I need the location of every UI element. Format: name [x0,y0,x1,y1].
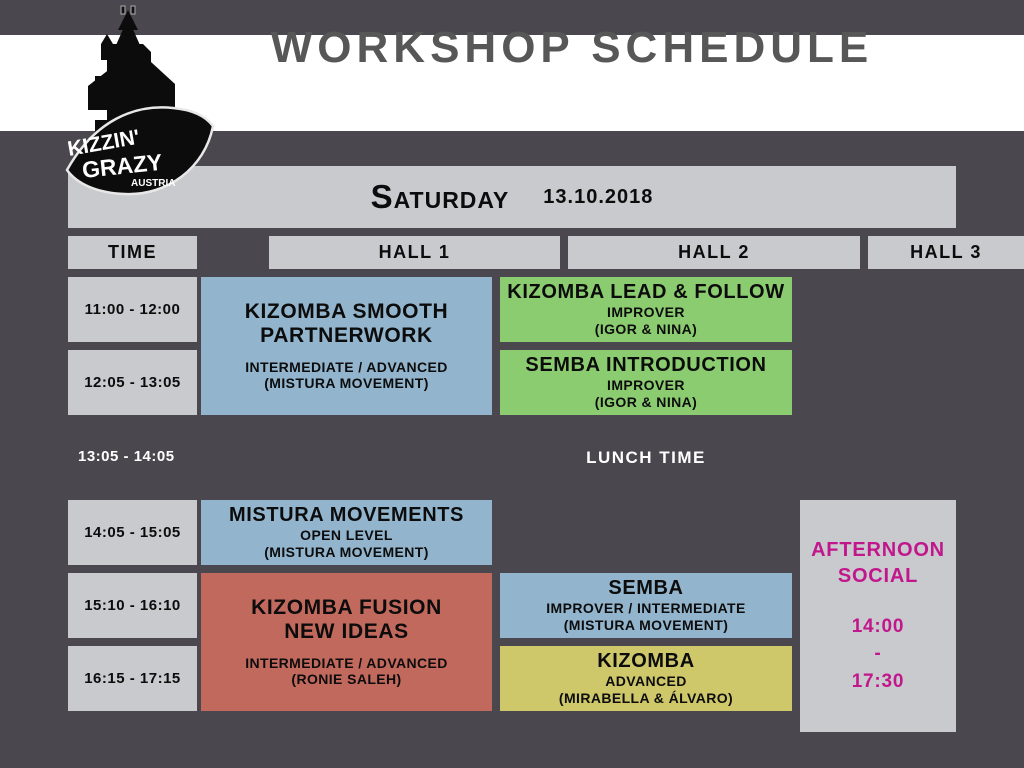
workshop-schedule-poster: WORKSHOP SCHEDULE KIZZIN' [0,0,1024,768]
session-title: SEMBA INTRODUCTION [525,354,766,377]
time-cell-1205-1305: 12:05 - 13:05 [68,350,197,415]
session-teacher: (RONIE SALEH) [291,671,401,688]
time-cell-1100-1200: 11:00 - 12:00 [68,277,197,342]
session-teacher: (MISTURA MOVEMENT) [264,544,429,561]
social-time-dash: - [874,640,881,668]
day-name: Saturday [371,178,510,216]
session-semba[interactable]: SEMBA IMPROVER / INTERMEDIATE (MISTURA M… [500,573,792,638]
logo-line3: AUSTRIA [131,178,175,189]
social-time-start: 14:00 [852,613,905,641]
session-level: INTERMEDIATE / ADVANCED [245,655,448,672]
column-headers: TIME HALL 1 HALL 2 HALL 3 [68,236,956,269]
session-level: ADVANCED [605,673,687,690]
social-title-line1: AFTERNOON [811,537,945,563]
session-teacher: (IGOR & NINA) [595,321,697,338]
day-date: 13.10.2018 [543,186,653,209]
session-teacher: (IGOR & NINA) [595,394,697,411]
session-kizomba-smooth-partnerwork[interactable]: KIZOMBA SMOOTH PARTNERWORK INTERMEDIATE … [201,277,492,415]
session-title: MISTURA MOVEMENTS [229,504,464,527]
session-teacher: (MIRABELLA & ÁLVARO) [559,690,733,707]
session-afternoon-social[interactable]: AFTERNOON SOCIAL 14:00 - 17:30 [800,500,956,732]
session-title-line2: PARTNERWORK [260,324,433,348]
session-teacher: (MISTURA MOVEMENT) [264,375,429,392]
session-title: KIZOMBA LEAD & FOLLOW [507,281,784,304]
social-time-end: 17:30 [852,668,905,696]
session-level: IMPROVER [607,304,685,321]
session-title-line1: KIZOMBA FUSION [251,596,442,620]
session-mistura-movements[interactable]: MISTURA MOVEMENTS OPEN LEVEL (MISTURA MO… [201,500,492,565]
social-title-line2: SOCIAL [838,563,918,589]
session-level: IMPROVER / INTERMEDIATE [546,600,746,617]
column-header-hall-2: HALL 2 [568,236,860,269]
session-semba-introduction[interactable]: SEMBA INTRODUCTION IMPROVER (IGOR & NINA… [500,350,792,415]
session-kizomba-fusion-new-ideas[interactable]: KIZOMBA FUSION NEW IDEAS INTERMEDIATE / … [201,573,492,711]
session-title: KIZOMBA [597,650,695,673]
session-kizomba-lead-and-follow[interactable]: KIZOMBA LEAD & FOLLOW IMPROVER (IGOR & N… [500,277,792,342]
session-teacher: (MISTURA MOVEMENT) [564,617,729,634]
time-cell-1615-1715: 16:15 - 17:15 [68,646,197,711]
session-level: OPEN LEVEL [300,527,393,544]
column-header-hall-1: HALL 1 [269,236,560,269]
session-title-line1: KIZOMBA SMOOTH [245,300,449,324]
kizzin-grazy-austria-logo: KIZZIN' GRAZY AUSTRIA [55,0,235,200]
session-title-line2: NEW IDEAS [284,620,408,644]
lunch-label: LUNCH TIME [500,448,792,468]
column-header-time: TIME [68,236,197,269]
session-kizomba-advanced[interactable]: KIZOMBA ADVANCED (MIRABELLA & ÁLVARO) [500,646,792,711]
session-title: SEMBA [608,577,683,600]
lunch-time: 13:05 - 14:05 [78,448,175,465]
time-cell-1510-1610: 15:10 - 16:10 [68,573,197,638]
column-header-hall-3: HALL 3 [868,236,1024,269]
session-level: INTERMEDIATE / ADVANCED [245,359,448,376]
time-cell-1405-1505: 14:05 - 15:05 [68,500,197,565]
session-level: IMPROVER [607,377,685,394]
